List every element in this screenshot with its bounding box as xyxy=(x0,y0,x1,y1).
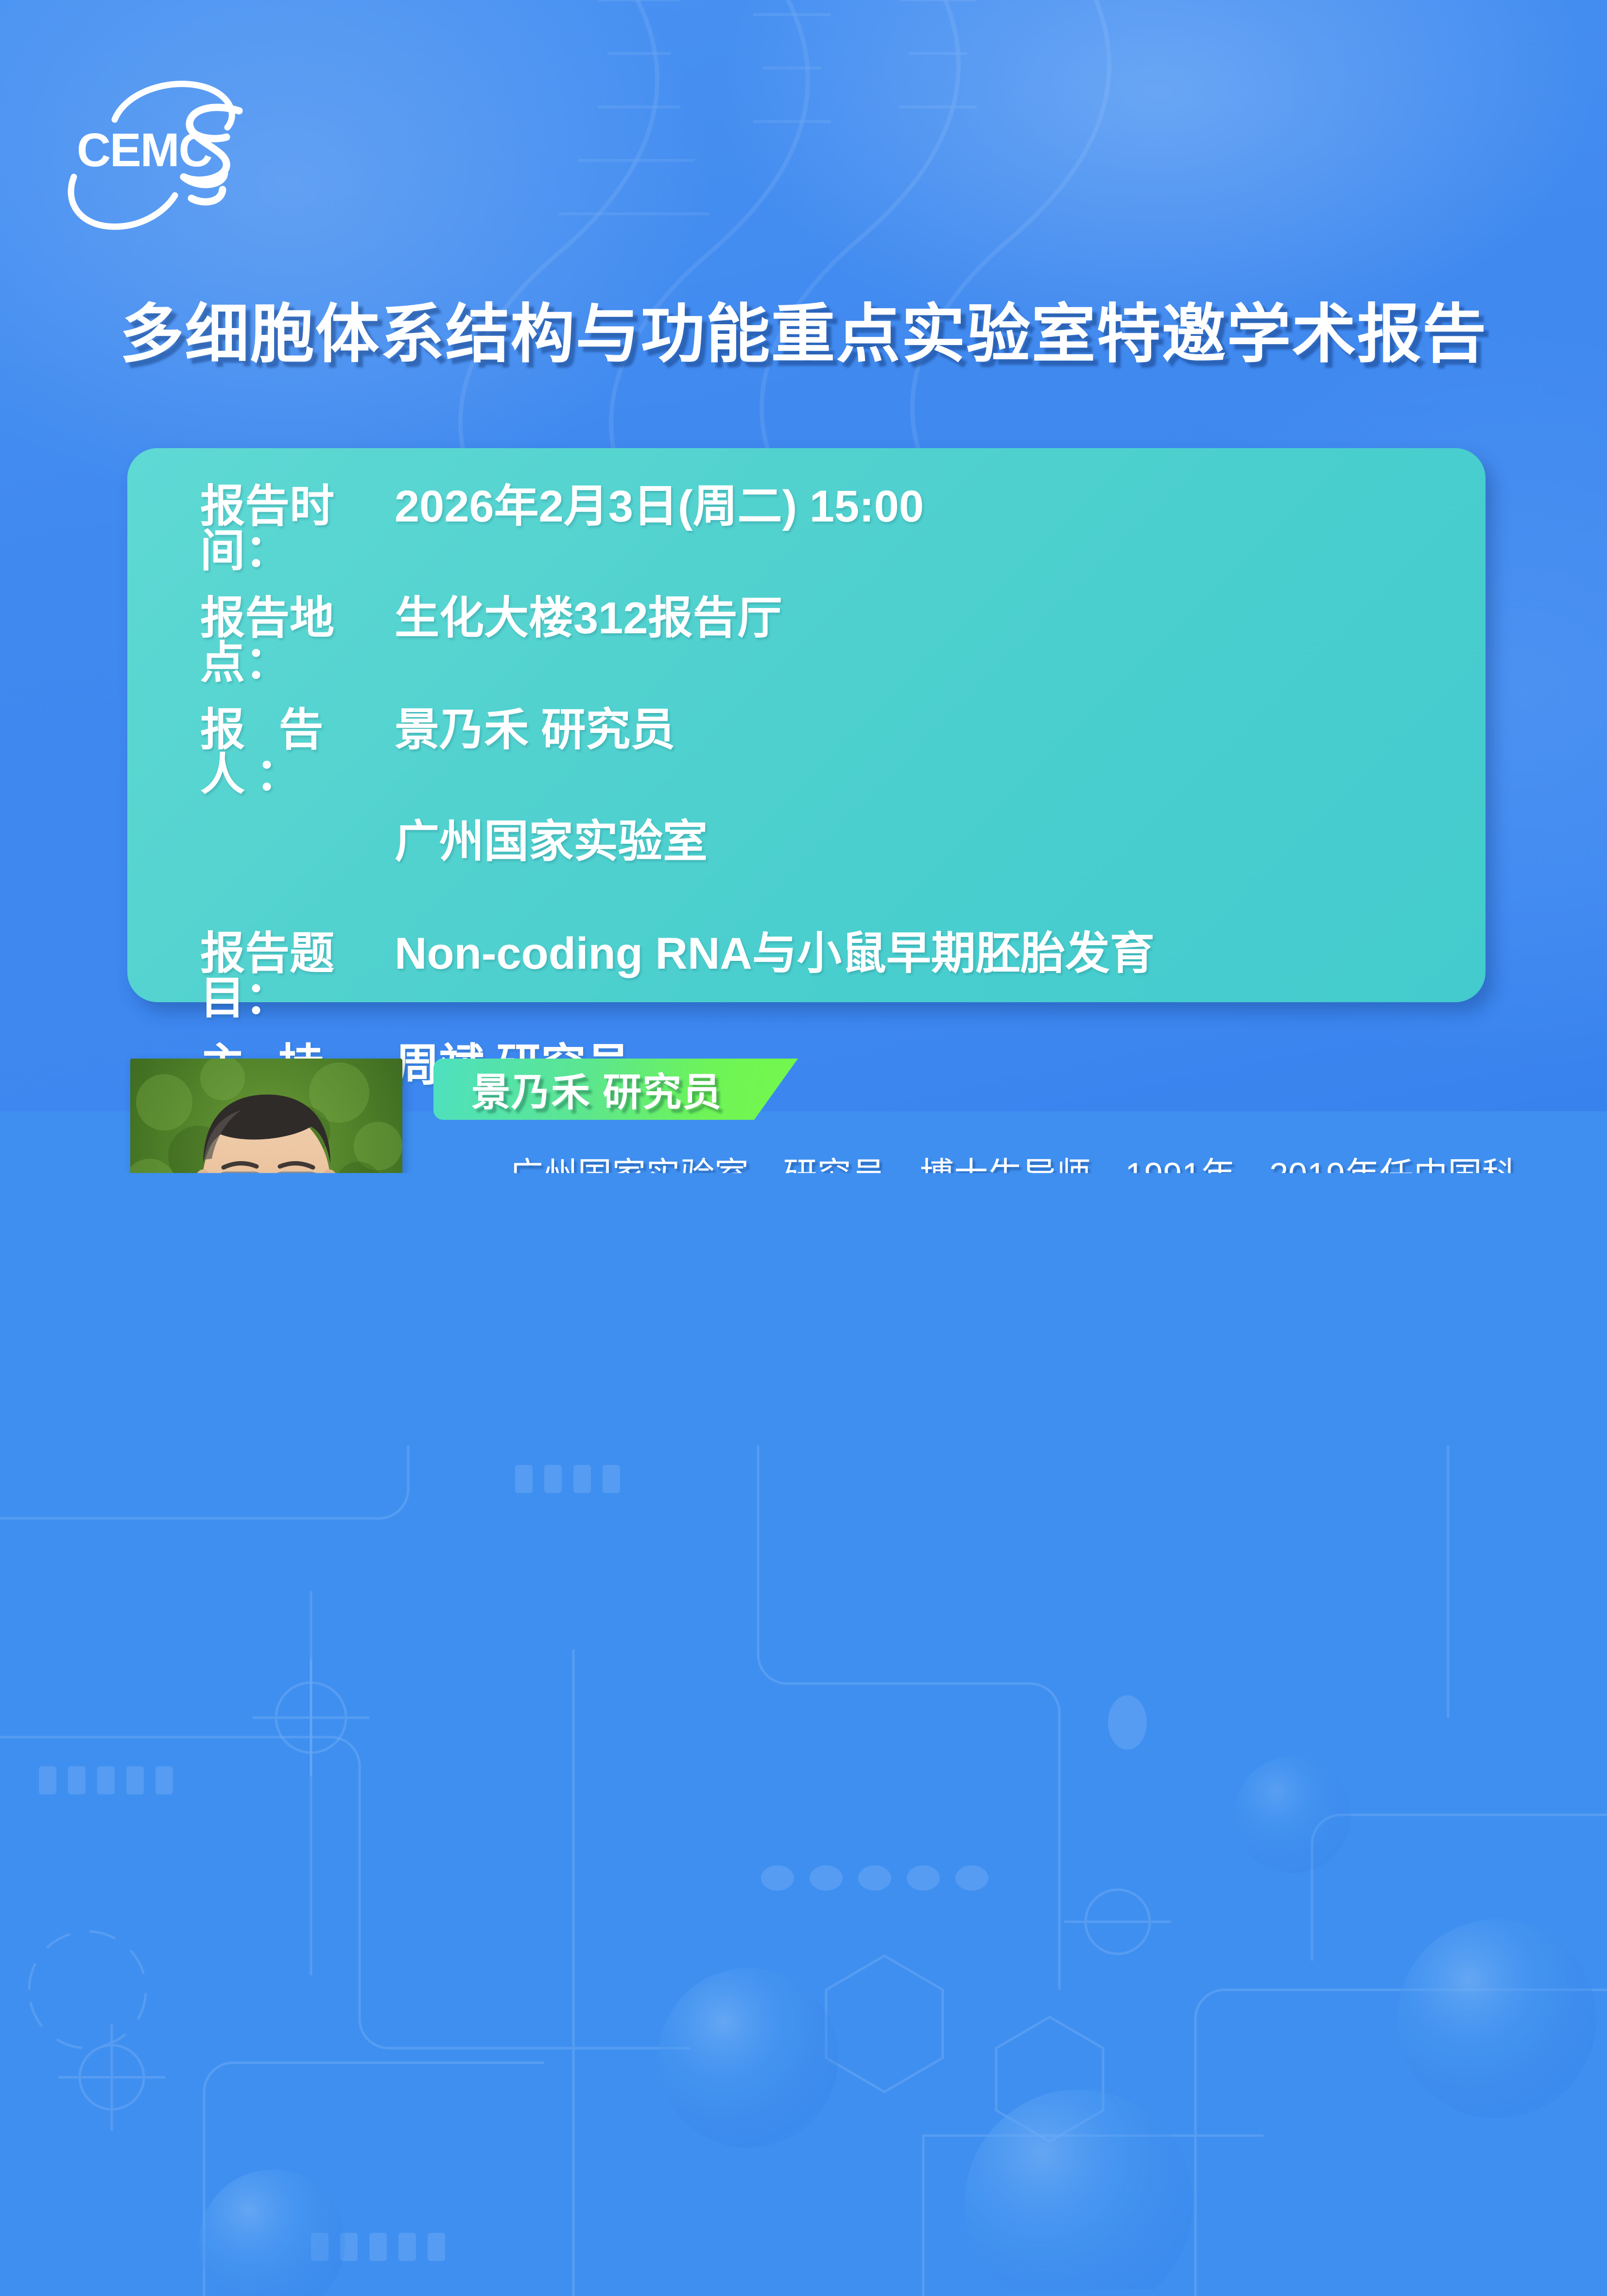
info-row-affiliation: 报 告 人： 广州国家实验室 xyxy=(127,819,1486,909)
cemc-logo-icon: CEMC xyxy=(53,73,258,233)
info-label-time: 报告时间： xyxy=(200,484,395,574)
speaker-name-badge: 景乃禾 研究员 xyxy=(433,1059,798,1120)
info-label-venue: 报告地点： xyxy=(200,596,395,685)
seminar-info-card: 报告时间： 2026年2月3日(周二) 15:00 报告地点： 生化大楼312报… xyxy=(127,448,1486,1002)
svg-text:CEMC: CEMC xyxy=(77,123,212,176)
info-value-time: 2026年2月3日(周二) 15:00 xyxy=(395,484,1486,529)
info-value-venue: 生化大楼312报告厅 xyxy=(395,596,1486,641)
info-label-speaker: 报 告 人： xyxy=(200,708,395,797)
bio-paragraph-2: 景乃禾研究员长期从事中枢神经系统发育的分子机制及多能干细胞神经定向分化的调控机制… xyxy=(441,1286,1516,1949)
info-row-topic: 报告题目： Non-coding RNA与小鼠早期胚胎发育 xyxy=(127,931,1486,1021)
info-label-topic: 报告题目： xyxy=(200,931,395,1021)
poster-canvas: CEMC 多细胞体系结构与功能重点实验室特邀学术报告 报告时间： 2026年2月… xyxy=(0,0,1607,2296)
speaker-biography: 广州国家实验室，研究员，博士生导师。1991年—2019年任中国科学院上海生物化… xyxy=(441,1153,1516,1949)
info-value-affiliation: 广州国家实验室 xyxy=(395,819,1486,864)
info-row-speaker: 报 告 人： 景乃禾 研究员 xyxy=(127,708,1486,797)
speaker-badge-label: 景乃禾 研究员 xyxy=(433,1061,722,1117)
page-title: 多细胞体系结构与功能重点实验室特邀学术报告 xyxy=(0,302,1607,366)
speaker-portrait xyxy=(130,1059,402,1374)
info-value-topic: Non-coding RNA与小鼠早期胚胎发育 xyxy=(395,931,1486,976)
info-row-venue: 报告地点： 生化大楼312报告厅 xyxy=(127,596,1486,685)
bio-paragraph-1: 广州国家实验室，研究员，博士生导师。1991年—2019年任中国科学院上海生物化… xyxy=(441,1153,1516,1286)
info-value-speaker: 景乃禾 研究员 xyxy=(395,708,1486,752)
info-row-time: 报告时间： 2026年2月3日(周二) 15:00 xyxy=(127,484,1486,574)
